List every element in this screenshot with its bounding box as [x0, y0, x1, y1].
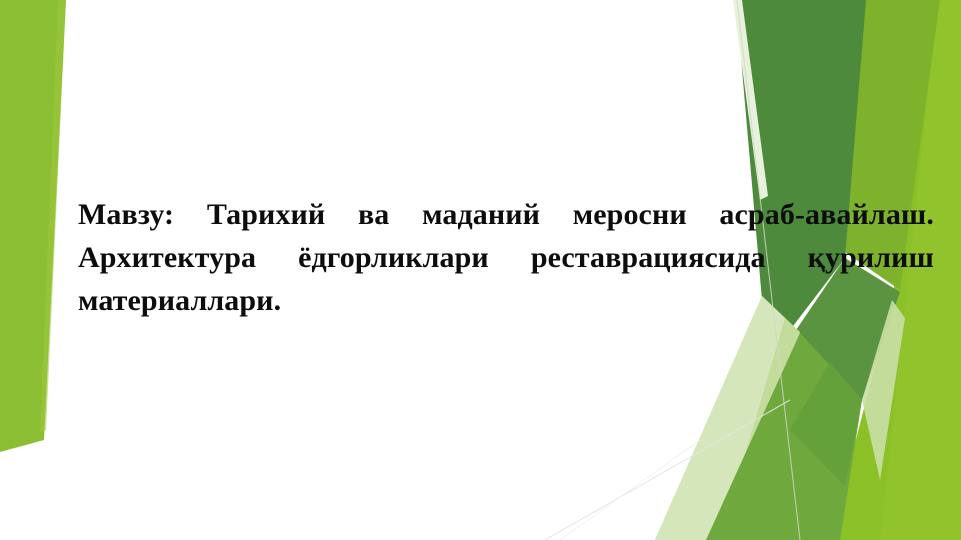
title-word: маданий — [422, 193, 540, 236]
title-line-1: Мавзу: Тарихий ва маданий меросни асраб-… — [78, 193, 934, 236]
title-word: Тарихий — [207, 193, 326, 236]
title-word: ёдгорликлари — [298, 236, 489, 279]
slide-canvas: Мавзу: Тарихий ва маданий меросни асраб-… — [0, 0, 961, 540]
title-word: асраб-авайлаш. — [719, 193, 934, 236]
title-word: Мавзу: — [78, 193, 174, 236]
title-word: Архитектура — [78, 236, 256, 279]
title-word: реставрациясида — [531, 236, 766, 279]
slide-title: Мавзу: Тарихий ва маданий меросни асраб-… — [78, 193, 934, 322]
title-word: ва — [358, 193, 389, 236]
title-line-3: материаллари. — [78, 279, 934, 322]
title-line-2: Архитектура ёдгорликлари реставрациясида… — [78, 236, 934, 279]
title-word: меросни — [573, 193, 687, 236]
title-word: қурилиш — [808, 236, 934, 279]
